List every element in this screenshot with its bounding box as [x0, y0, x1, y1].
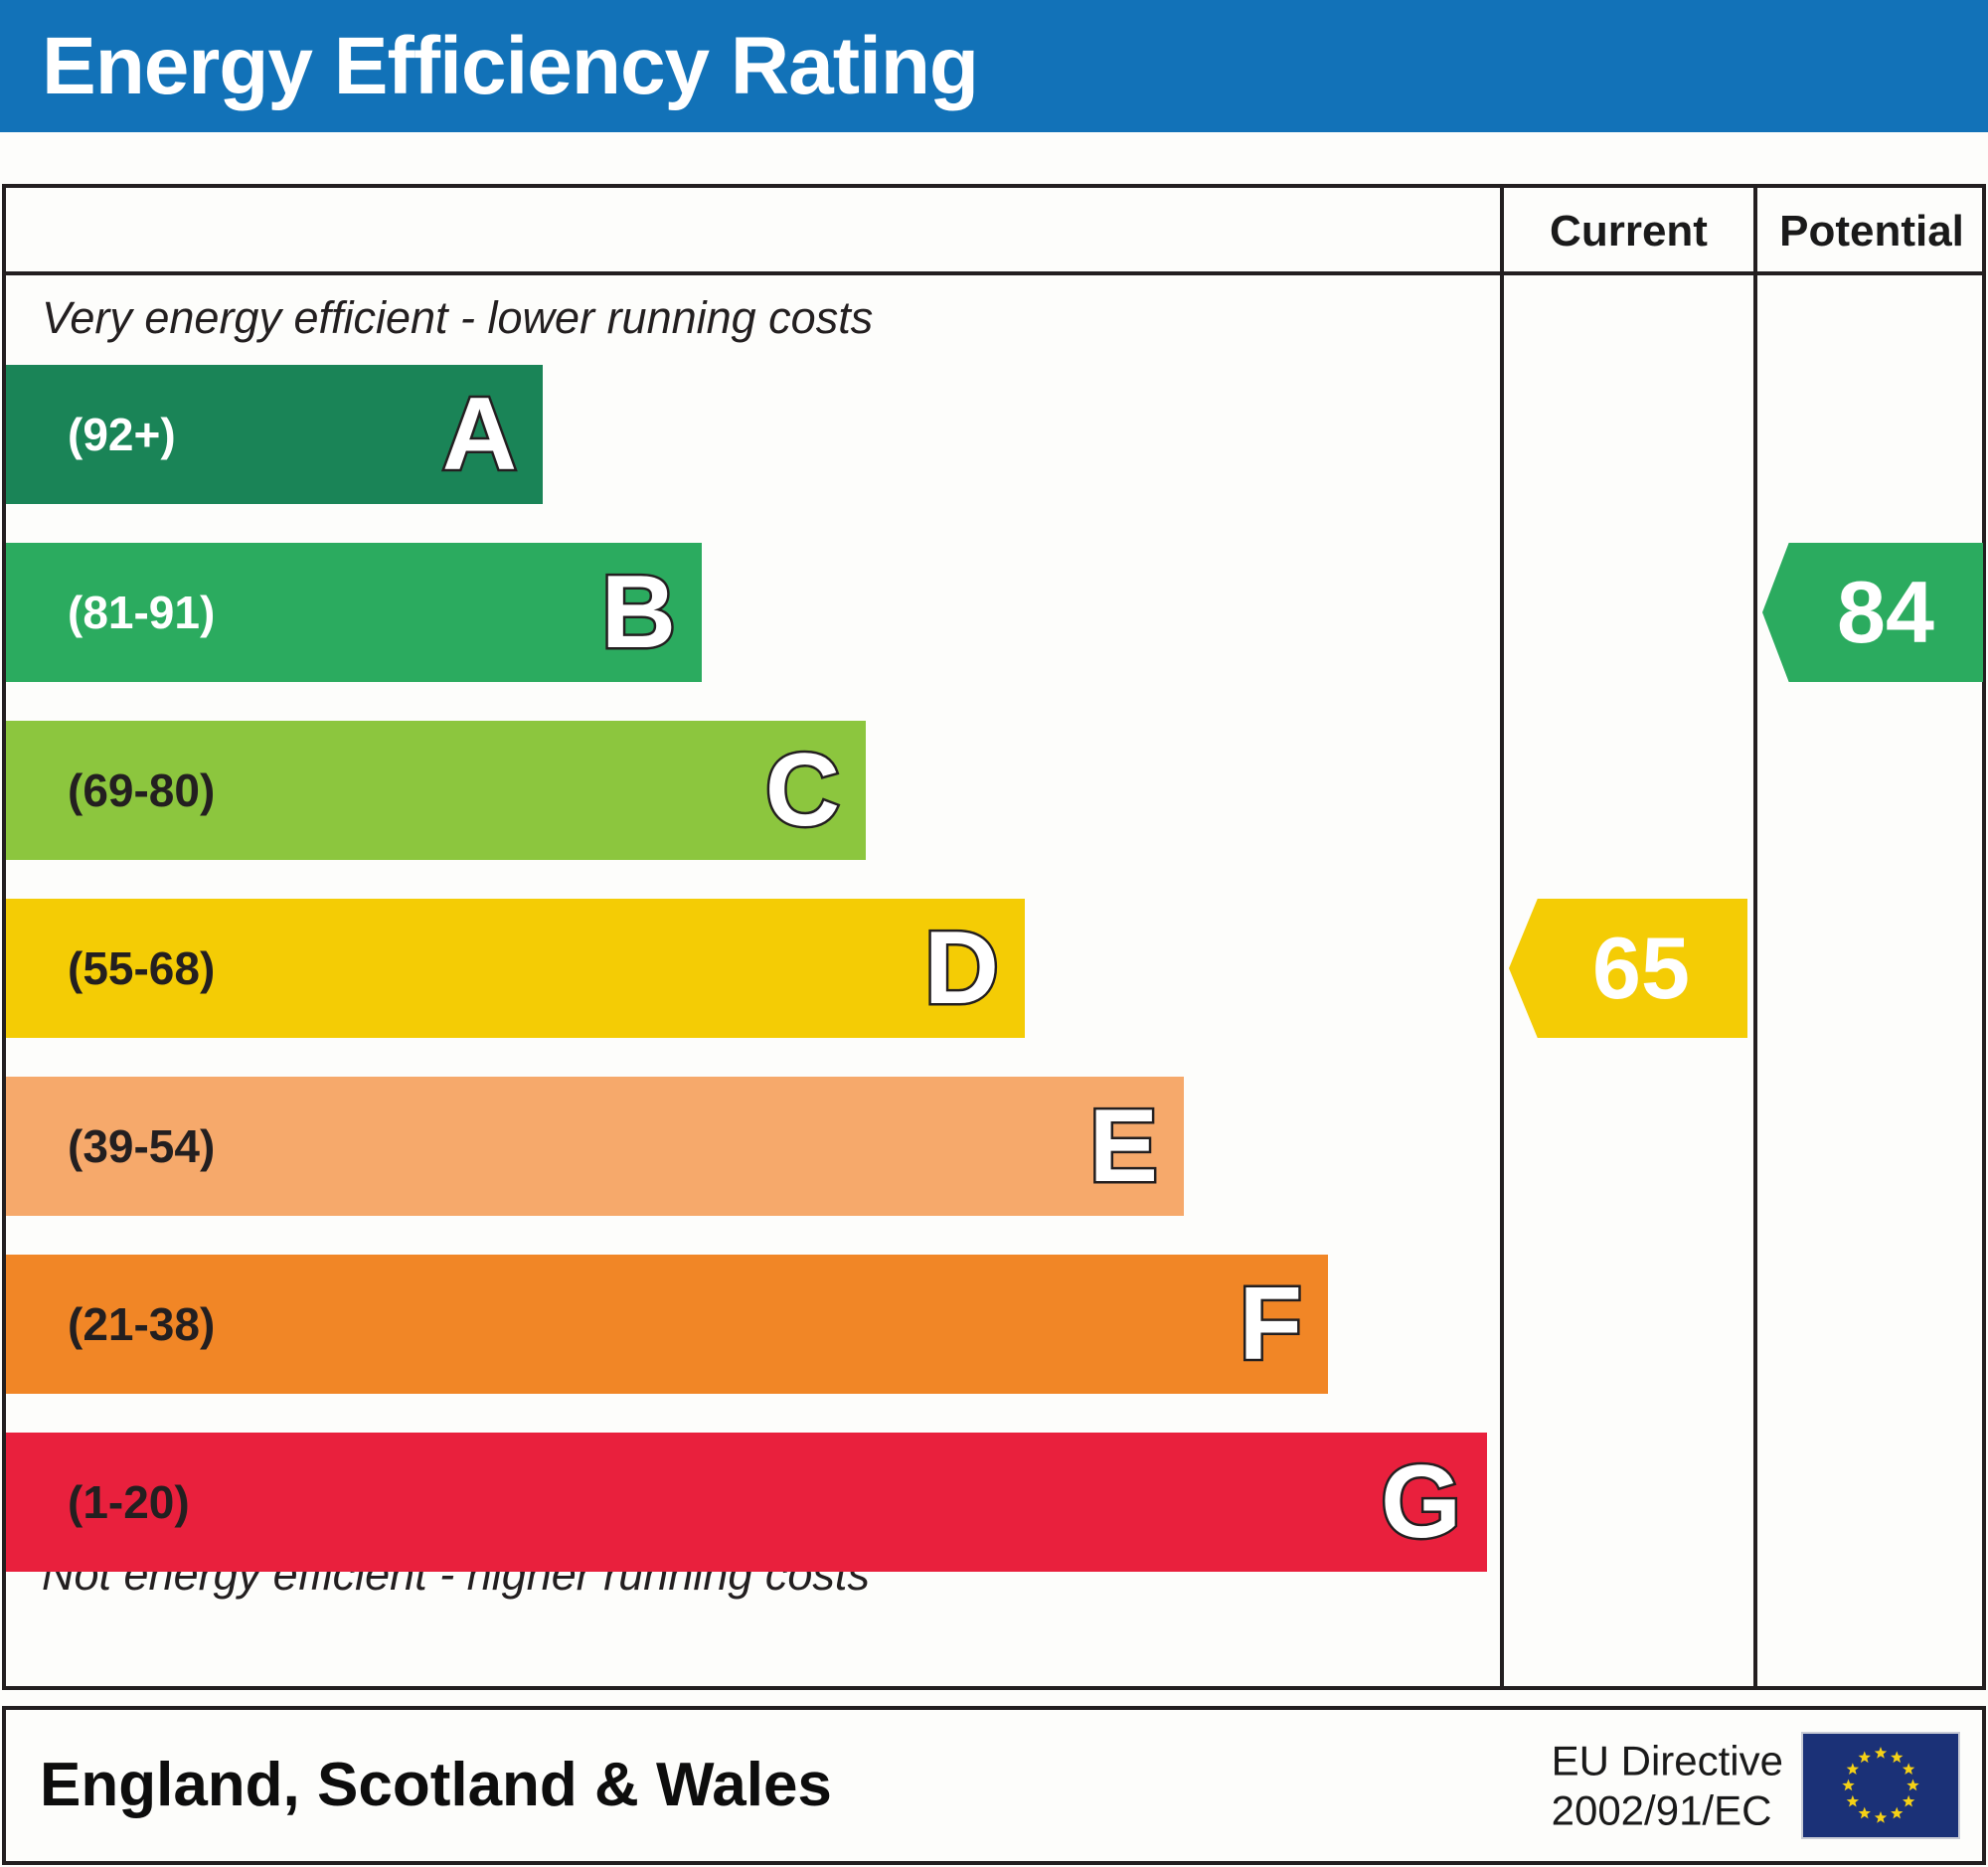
current-rating-value: 65 — [1567, 925, 1690, 1012]
page-title: Energy Efficiency Rating — [0, 26, 978, 107]
footer-directive-line1: EU Directive — [1552, 1736, 1783, 1785]
band-range-f: (21-38) — [6, 1301, 215, 1347]
band-letter-b: B — [601, 561, 676, 664]
band-bar-e: (39-54)E — [6, 1077, 1184, 1216]
eu-flag-icon — [1801, 1732, 1960, 1839]
energy-efficiency-rating-chart: Energy Efficiency Rating Current Potenti… — [0, 0, 1988, 1867]
band-letter-c: C — [765, 739, 840, 842]
band-letter-g: G — [1381, 1450, 1461, 1554]
band-bar-a: (92+)A — [6, 365, 543, 504]
band-bars-container: (92+)A(81-91)B(69-80)C(55-68)D(39-54)E(2… — [6, 365, 1496, 1533]
band-range-e: (39-54) — [6, 1123, 215, 1169]
potential-rating-arrow: 84 — [1762, 543, 1983, 682]
potential-rating-value: 84 — [1811, 569, 1934, 656]
band-bar-c: (69-80)C — [6, 721, 866, 860]
band-letter-d: D — [924, 917, 999, 1020]
band-letter-f: F — [1239, 1273, 1302, 1376]
band-letter-a: A — [442, 383, 517, 486]
band-bar-b: (81-91)B — [6, 543, 702, 682]
band-range-g: (1-20) — [6, 1479, 190, 1525]
footer-directive-line2: 2002/91/EC — [1552, 1785, 1783, 1835]
chart-footer: England, Scotland & Wales EU Directive 2… — [2, 1706, 1986, 1865]
band-letter-e: E — [1089, 1095, 1158, 1198]
chart-body: Current Potential Very energy efficient … — [2, 184, 1986, 1690]
column-header-current: Current — [1504, 188, 1753, 275]
band-bar-f: (21-38)F — [6, 1255, 1328, 1394]
band-bar-g: (1-20)G — [6, 1433, 1487, 1572]
column-header-potential: Potential — [1757, 188, 1986, 275]
column-divider-potential — [1753, 188, 1757, 1686]
band-range-c: (69-80) — [6, 767, 215, 813]
footer-region-label: England, Scotland & Wales — [40, 1755, 832, 1816]
band-range-a: (92+) — [6, 412, 176, 457]
caption-top: Very energy efficient - lower running co… — [42, 295, 873, 340]
band-range-b: (81-91) — [6, 590, 215, 635]
band-bar-d: (55-68)D — [6, 899, 1025, 1038]
band-range-d: (55-68) — [6, 945, 215, 991]
column-divider-current — [1500, 188, 1504, 1686]
current-rating-arrow: 65 — [1509, 899, 1747, 1038]
footer-directive-label: EU Directive 2002/91/EC — [1552, 1736, 1783, 1834]
chart-title-bar: Energy Efficiency Rating — [0, 0, 1988, 132]
